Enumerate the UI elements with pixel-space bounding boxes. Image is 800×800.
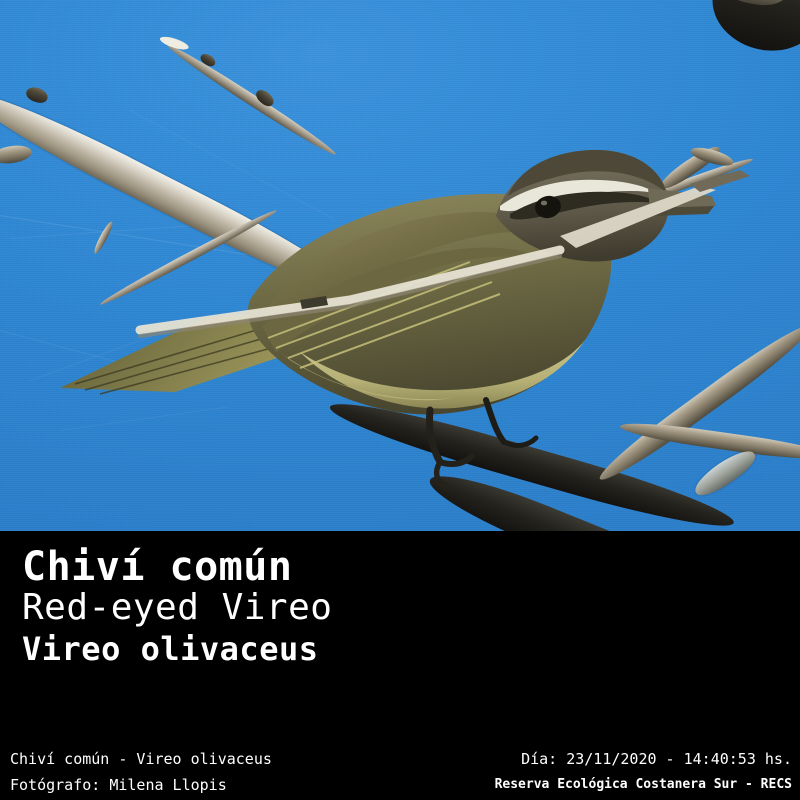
bird-illustration <box>0 0 800 531</box>
common-name-title: Chiví común <box>22 545 292 589</box>
bird-photo-card: Chiví común Red-eyed Vireo Vireo olivace… <box>0 0 800 800</box>
footer-location: Reserva Ecológica Costanera Sur - RECS <box>495 775 792 795</box>
bird-leg <box>429 410 440 462</box>
bird-foot-toe <box>440 456 472 464</box>
footer-photographer: Fotógrafo: Milena Llopis <box>10 775 227 795</box>
english-name-subtitle: Red-eyed Vireo <box>22 588 332 628</box>
footer-species-line: Chiví común - Vireo olivaceus <box>10 749 272 769</box>
held-twig-dark-tip <box>690 170 750 192</box>
photograph <box>0 0 800 531</box>
scientific-name-title: Vireo olivaceus <box>22 630 318 668</box>
footer-datetime: Día: 23/11/2020 - 14:40:53 hs. <box>521 749 792 769</box>
bird-leg-rear <box>486 400 504 442</box>
bird-eye-highlight <box>541 201 547 206</box>
bird-foot-toe-rear <box>504 438 536 445</box>
